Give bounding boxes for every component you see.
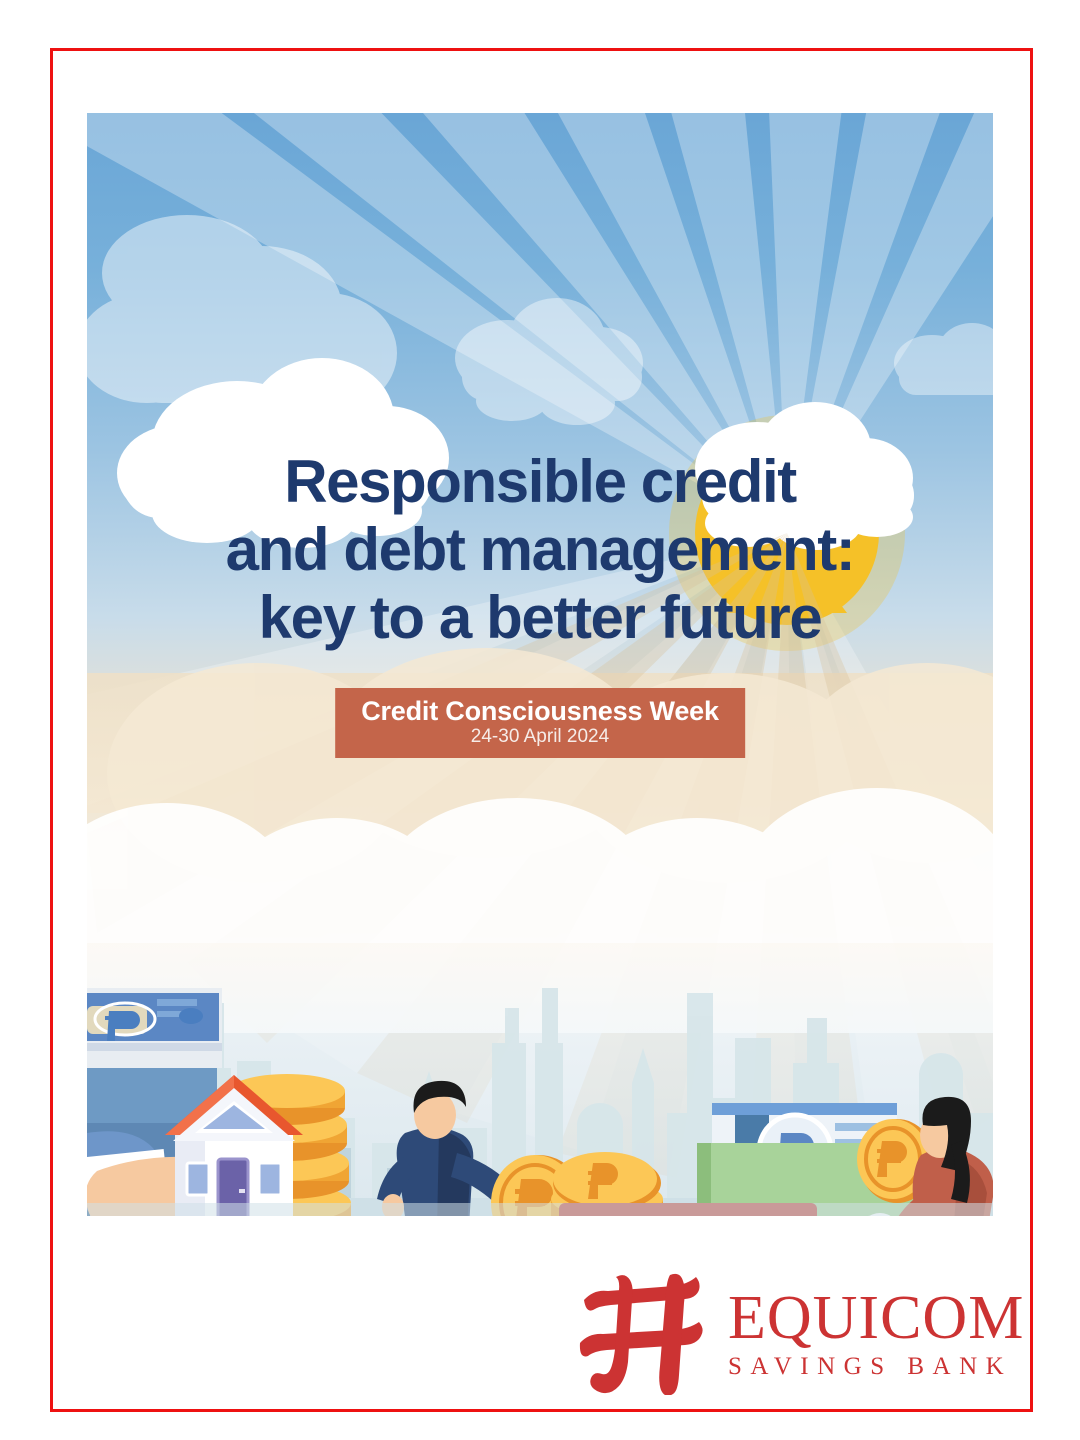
page-title: Responsible credit and debt management: … xyxy=(87,448,993,651)
banknote-icon xyxy=(87,988,222,1068)
brand-logo: EQUICOM SAVINGS BANK xyxy=(578,1268,1030,1400)
event-banner: Credit Consciousness Week 24-30 April 20… xyxy=(335,688,745,758)
headline-line-3: key to a better future xyxy=(99,584,981,652)
logo-tagline: SAVINGS BANK xyxy=(728,1354,1024,1379)
logo-wordmarks: EQUICOM SAVINGS BANK xyxy=(728,1289,1024,1380)
headline-line-2: and debt management: xyxy=(99,516,981,584)
foreground-scene xyxy=(87,113,993,1216)
hero-illustration: Responsible credit and debt management: … xyxy=(87,113,993,1216)
poster-page: Responsible credit and debt management: … xyxy=(0,0,1080,1440)
logo-name: EQUICOM xyxy=(728,1289,1024,1348)
equicom-brush-mark-icon xyxy=(578,1273,710,1395)
event-banner-title: Credit Consciousness Week xyxy=(361,697,719,725)
headline-line-1: Responsible credit xyxy=(99,448,981,516)
event-banner-dates: 24-30 April 2024 xyxy=(361,727,719,747)
